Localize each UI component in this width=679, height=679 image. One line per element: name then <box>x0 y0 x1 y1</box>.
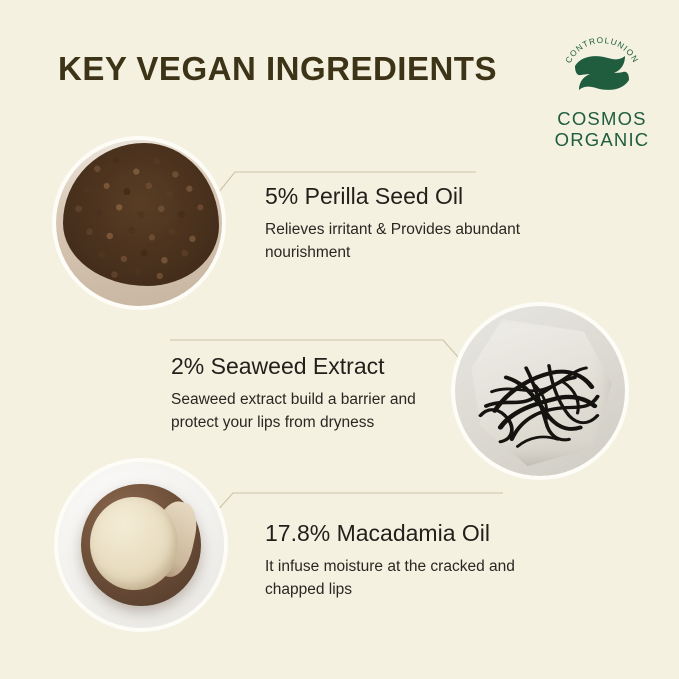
ingredient-description-perilla: Relieves irritant & Provides abundant no… <box>265 218 555 264</box>
ingredient-image-macadamia <box>58 462 224 628</box>
macadamia-kernel <box>90 497 178 590</box>
seaweed-scene <box>455 306 625 476</box>
cert-name-line-1: COSMOS <box>543 108 661 129</box>
ingredient-text-perilla: 5% Perilla Seed Oil Relieves irritant & … <box>265 183 555 264</box>
ingredient-image-perilla <box>56 140 222 306</box>
seaweed-strands <box>469 337 612 456</box>
control-union-s-icon <box>559 28 645 114</box>
ingredient-description-seaweed: Seaweed extract build a barrier and prot… <box>171 388 461 434</box>
page-title: KEY VEGAN INGREDIENTS <box>58 50 497 88</box>
ingredient-text-seaweed: 2% Seaweed Extract Seaweed extract build… <box>171 353 461 434</box>
cosmos-organic-label: COSMOS ORGANIC <box>543 108 661 150</box>
perilla-seed-pile <box>63 143 219 286</box>
control-union-mark: CONTROLUNION <box>559 28 645 114</box>
ingredient-title-macadamia: 17.8% Macadamia Oil <box>265 520 555 547</box>
cert-name-line-2: ORGANIC <box>543 129 661 150</box>
ingredient-image-seaweed <box>455 306 625 476</box>
ingredient-title-perilla: 5% Perilla Seed Oil <box>265 183 555 210</box>
ingredients-infographic: KEY VEGAN INGREDIENTS CONTROLUNION COSMO… <box>0 0 679 679</box>
ingredient-description-macadamia: It infuse moisture at the cracked and ch… <box>265 555 555 601</box>
ingredient-title-seaweed: 2% Seaweed Extract <box>171 353 461 380</box>
perilla-seeds-scene <box>56 140 222 306</box>
ingredient-text-macadamia: 17.8% Macadamia Oil It infuse moisture a… <box>265 520 555 601</box>
connector-line-macadamia <box>216 493 503 512</box>
cosmos-organic-certification-logo: CONTROLUNION COSMOS ORGANIC <box>543 28 661 150</box>
macadamia-scene <box>58 462 224 628</box>
